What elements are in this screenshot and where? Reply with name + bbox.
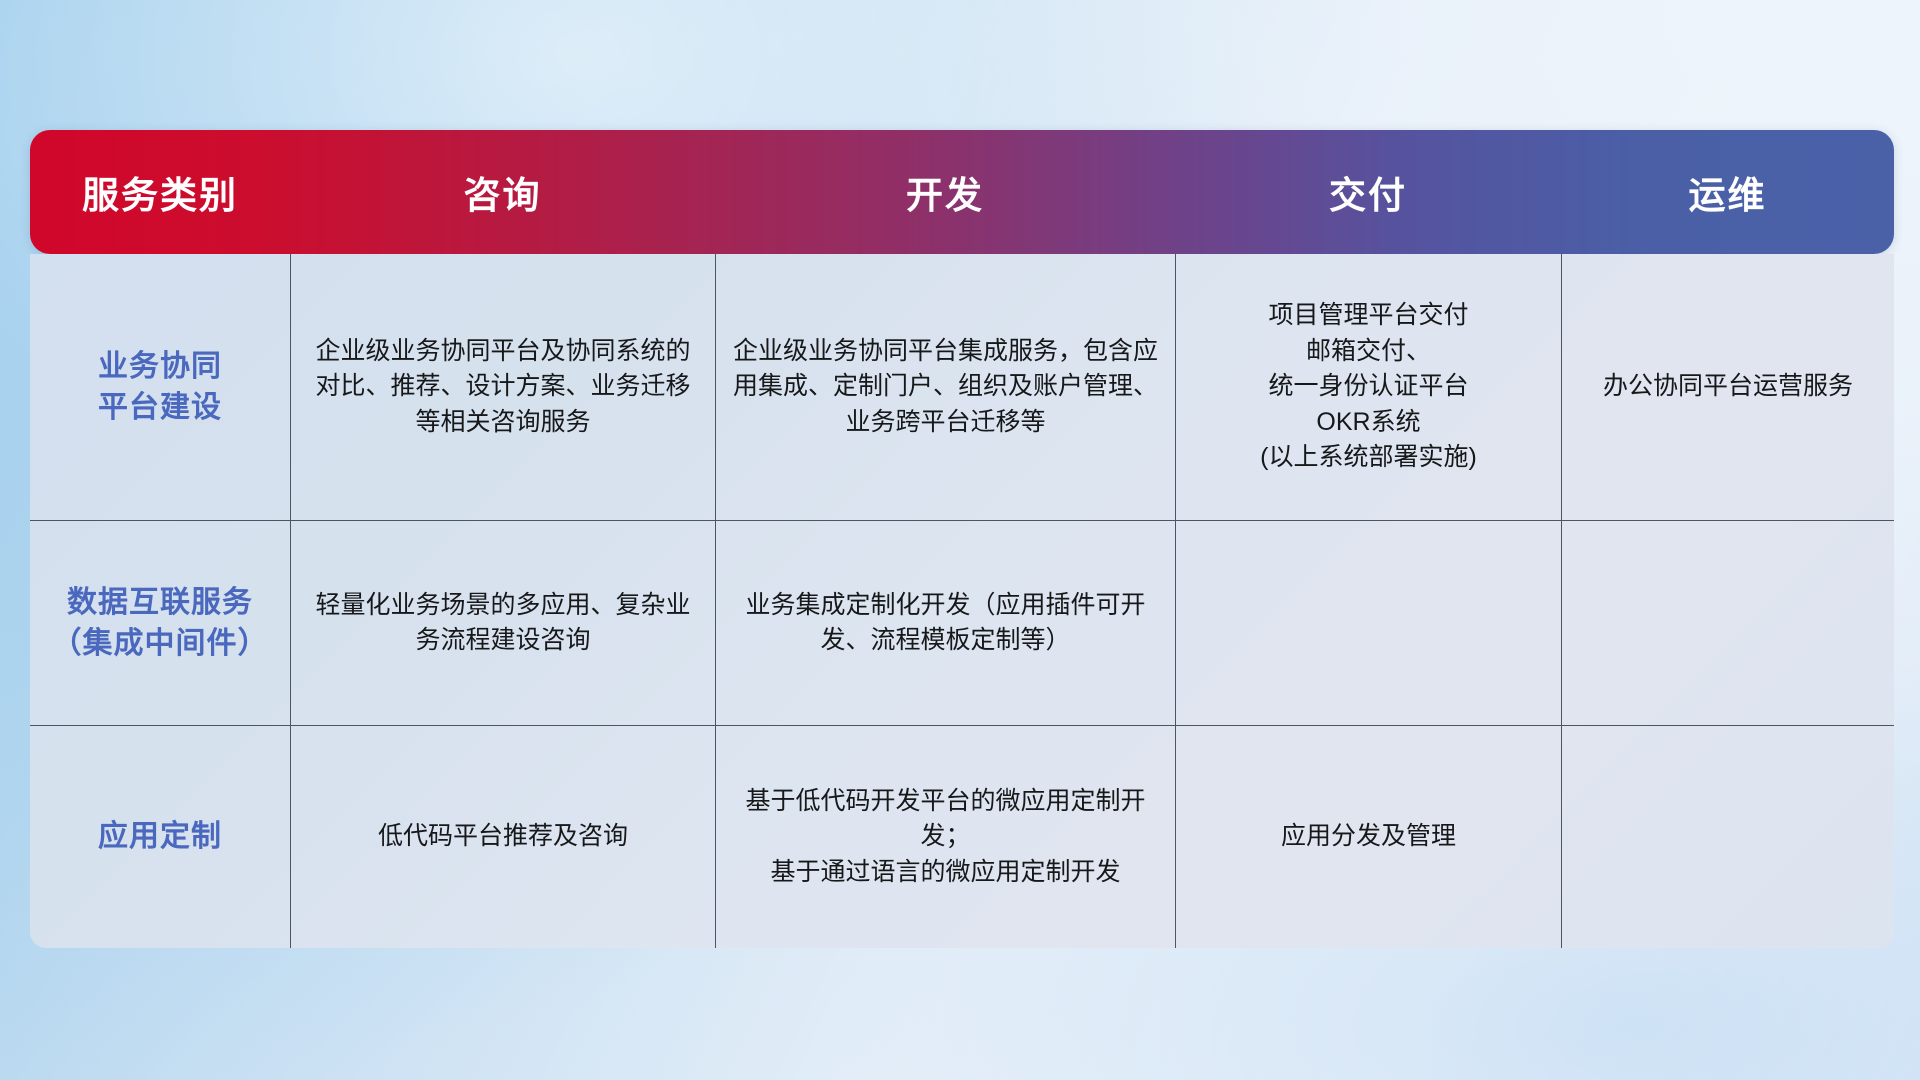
table-row: 数据互联服务 （集成中间件） 轻量化业务场景的多应用、复杂业务流程建设咨询 业务… (30, 520, 1894, 725)
cell-operations-row3 (1561, 726, 1894, 948)
row-label-data-interconnect-service: 数据互联服务 （集成中间件） (30, 521, 290, 725)
column-header-development: 开发 (715, 165, 1175, 219)
cell-consulting-row2: 轻量化业务场景的多应用、复杂业务流程建设咨询 (290, 521, 715, 725)
cell-development-row2: 业务集成定制化开发（应用插件可开发、流程模板定制等） (715, 521, 1175, 725)
column-header-consulting: 咨询 (290, 165, 715, 219)
cell-delivery-row2 (1175, 521, 1561, 725)
cell-development-row1: 企业级业务协同平台集成服务，包含应用集成、定制门户、组织及账户管理、业务跨平台迁… (715, 254, 1175, 520)
table-header-row: 服务类别 咨询 开发 交付 运维 (30, 130, 1894, 254)
service-matrix-table: 服务类别 咨询 开发 交付 运维 业务协同 平台建设 企业级业务协同平台及协同系… (30, 130, 1894, 948)
cell-operations-row2 (1561, 521, 1894, 725)
column-header-operations: 运维 (1561, 165, 1894, 219)
cell-operations-row1: 办公协同平台运营服务 (1561, 254, 1894, 520)
slide-canvas: 服务类别 咨询 开发 交付 运维 业务协同 平台建设 企业级业务协同平台及协同系… (0, 0, 1920, 1080)
row-label-business-collaboration-platform: 业务协同 平台建设 (30, 254, 290, 520)
column-header-delivery: 交付 (1175, 165, 1561, 219)
table-row: 应用定制 低代码平台推荐及咨询 基于低代码开发平台的微应用定制开发； 基于通过语… (30, 725, 1894, 948)
table-body: 业务协同 平台建设 企业级业务协同平台及协同系统的对比、推荐、设计方案、业务迁移… (30, 254, 1894, 948)
cell-delivery-row1: 项目管理平台交付 邮箱交付、 统一身份认证平台 OKR系统 (以上系统部署实施) (1175, 254, 1561, 520)
table-row: 业务协同 平台建设 企业级业务协同平台及协同系统的对比、推荐、设计方案、业务迁移… (30, 254, 1894, 520)
cell-development-row3: 基于低代码开发平台的微应用定制开发； 基于通过语言的微应用定制开发 (715, 726, 1175, 948)
cell-consulting-row3: 低代码平台推荐及咨询 (290, 726, 715, 948)
cell-consulting-row1: 企业级业务协同平台及协同系统的对比、推荐、设计方案、业务迁移等相关咨询服务 (290, 254, 715, 520)
column-header-service-category: 服务类别 (30, 165, 290, 219)
row-label-application-customization: 应用定制 (30, 726, 290, 948)
cell-delivery-row3: 应用分发及管理 (1175, 726, 1561, 948)
